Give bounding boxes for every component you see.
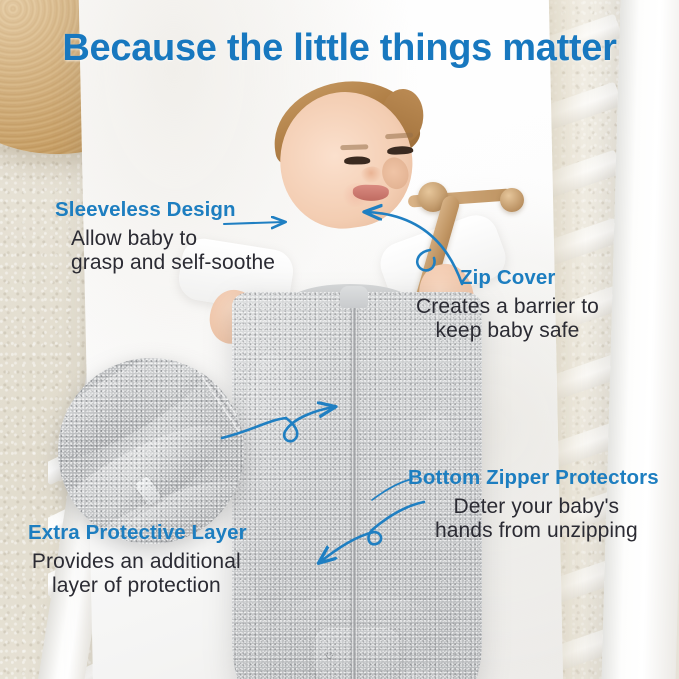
annotation-zip-cover: Zip Cover Creates a barrier to keep baby…	[460, 266, 599, 343]
infographic-canvas: Because the little things matter Sleevel…	[0, 0, 679, 679]
sleep-sack-zipper	[352, 308, 357, 679]
baby-eye-right	[387, 146, 413, 155]
protector-snap-dot	[326, 652, 333, 659]
baby-nose	[359, 165, 383, 184]
annotation-title: Extra Protective Layer	[28, 521, 247, 545]
annotation-body: Creates a barrier to keep baby safe	[416, 295, 599, 343]
baby-subject	[232, 86, 482, 646]
annotation-body: Allow baby to grasp and self-soothe	[71, 227, 275, 275]
zip-cover-tab	[340, 286, 368, 308]
annotation-body: Provides an additional layer of protecti…	[26, 550, 247, 598]
annotation-extra-protective-layer: Extra Protective Layer Provides an addit…	[28, 521, 247, 598]
bottom-zipper-protector-tab	[314, 628, 400, 679]
zoom-detail-circle	[58, 358, 244, 544]
inset-zipper-pull	[134, 476, 162, 507]
annotation-bottom-zipper-protectors: Bottom Zipper Protectors Deter your baby…	[408, 466, 659, 543]
annotation-title: Bottom Zipper Protectors	[408, 466, 659, 490]
annotation-title: Sleeveless Design	[55, 198, 275, 222]
inset-zipper	[186, 358, 244, 544]
page-title: Because the little things matter	[0, 27, 679, 70]
baby-brow-left	[340, 144, 368, 150]
baby-eye-left	[344, 156, 370, 164]
annotation-sleeveless-design: Sleeveless Design Allow baby to grasp an…	[55, 198, 275, 275]
annotation-body: Deter your baby's hands from unzipping	[414, 495, 659, 543]
wooden-toy-bead	[500, 188, 524, 212]
baby-mouth	[353, 185, 389, 202]
annotation-title: Zip Cover	[460, 266, 599, 290]
